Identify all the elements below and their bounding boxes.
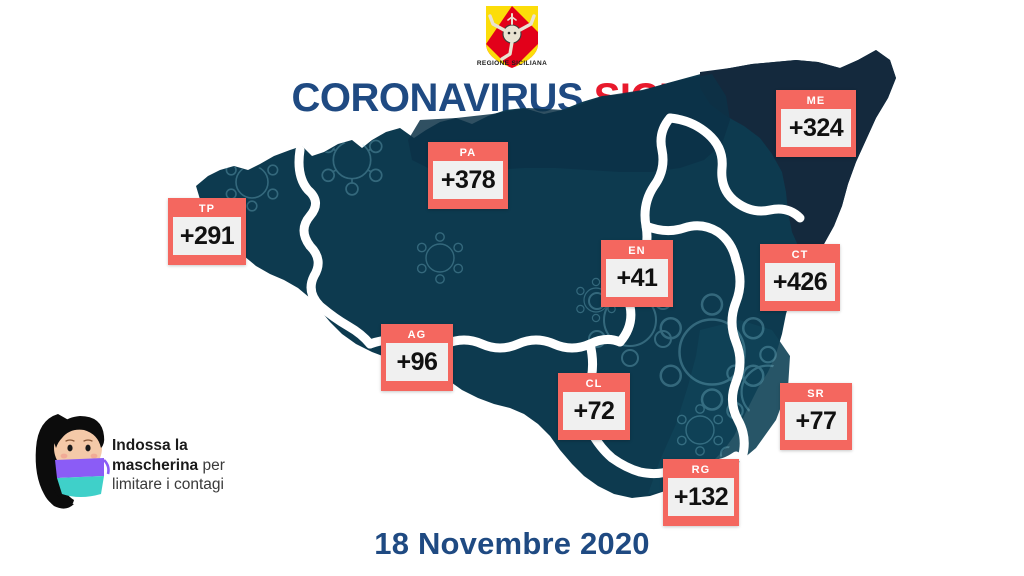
province-new-cases-value: +72 <box>563 392 625 430</box>
province-card-en[interactable]: EN+41 <box>601 240 673 307</box>
province-code-label: AG <box>386 328 448 343</box>
province-new-cases-value: +291 <box>173 217 241 255</box>
province-code-label: ME <box>781 94 851 109</box>
mask-notice-line3: limitare i contagi <box>112 476 224 493</box>
province-card-pa[interactable]: PA+378 <box>428 142 508 209</box>
province-new-cases-value: +132 <box>668 478 734 516</box>
province-card-cl[interactable]: CL+72 <box>558 373 630 440</box>
report-date: 18 Novembre 2020 <box>0 526 1024 562</box>
province-code-label: CL <box>563 377 625 392</box>
province-new-cases-value: +41 <box>606 259 668 297</box>
province-code-label: EN <box>606 244 668 259</box>
mask-notice-text: Indossa la mascherina per limitare i con… <box>112 436 312 495</box>
province-code-label: RG <box>668 463 734 478</box>
province-code-label: SR <box>785 387 847 402</box>
infographic-canvas: REGIONE SICILIANA CORONAVIRUS SICILIA <box>0 0 1024 576</box>
province-new-cases-value: +324 <box>781 109 851 147</box>
province-card-ct[interactable]: CT+426 <box>760 244 840 311</box>
province-new-cases-value: +96 <box>386 343 448 381</box>
province-new-cases-value: +378 <box>433 161 503 199</box>
province-card-sr[interactable]: SR+77 <box>780 383 852 450</box>
province-card-ag[interactable]: AG+96 <box>381 324 453 391</box>
mask-notice-line2-light: per <box>202 457 224 474</box>
province-card-rg[interactable]: RG+132 <box>663 459 739 526</box>
mask-woman-illustration <box>28 408 114 512</box>
province-new-cases-value: +77 <box>785 402 847 440</box>
province-code-label: TP <box>173 202 241 217</box>
province-card-tp[interactable]: TP+291 <box>168 198 246 265</box>
mask-notice-line1: Indossa la <box>112 437 188 454</box>
mask-notice-line2-bold: mascherina <box>112 457 198 474</box>
province-card-me[interactable]: ME+324 <box>776 90 856 157</box>
province-code-label: PA <box>433 146 503 161</box>
province-code-label: CT <box>765 248 835 263</box>
province-new-cases-value: +426 <box>765 263 835 301</box>
